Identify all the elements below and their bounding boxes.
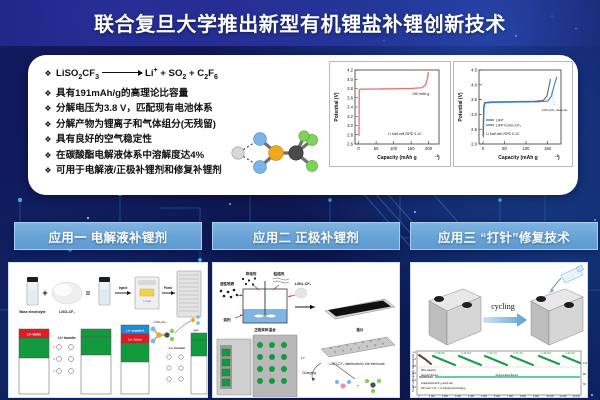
svg-text:50: 50 xyxy=(374,146,379,151)
svg-text:9,000: 9,000 xyxy=(533,395,540,397)
reaction-arrow-icon xyxy=(102,72,142,73)
page-title: 联合复旦大学推出新型有机锂盐补锂创新技术 xyxy=(0,8,600,37)
svg-text:C 97.4%: C 97.4% xyxy=(513,351,524,355)
svg-text:6,000: 6,000 xyxy=(494,395,501,397)
svg-text:LiFP: LiFP xyxy=(496,118,504,122)
list-item-label: 分解产物为锂离子和气体组分(无残留) xyxy=(56,118,216,131)
chart-capacity-potential-a: 2.62.8 3.03.2 3.43.6 3.84.0 4.2 050 1001… xyxy=(329,61,451,167)
svg-text:11,000: 11,000 xyxy=(559,395,567,397)
svg-text:100: 100 xyxy=(523,146,531,151)
svg-text:1.2: 1.2 xyxy=(412,350,416,354)
svg-text:Inject: Inject xyxy=(119,286,129,290)
svg-text:2,000: 2,000 xyxy=(442,395,449,397)
svg-text:2.5: 2.5 xyxy=(471,127,477,132)
poster-root: 联合复旦大学推出新型有机锂盐补锂创新技术 xyxy=(0,0,600,400)
app1-header[interactable]: 应用一 电解液补锂剂 xyxy=(14,222,202,250)
list-item-label: 可用于电解液/正极补锂剂和修复补锂剂 xyxy=(56,164,222,177)
svg-text:4.0: 4.0 xyxy=(347,77,353,82)
svg-text:Li half cell 25℃ 0.1C: Li half cell 25℃ 0.1C xyxy=(388,132,422,136)
app2-header[interactable]: 应用二 正极补锂剂 xyxy=(212,222,400,250)
svg-text:3.8: 3.8 xyxy=(347,86,353,91)
svg-text:12,000: 12,000 xyxy=(572,395,580,397)
svg-text:Capacity (mAh g: Capacity (mAh g xyxy=(377,155,416,161)
svg-text:Form: Form xyxy=(164,286,172,290)
sub-3: 3 xyxy=(95,74,99,81)
svg-text:C 96.1%: C 96.1% xyxy=(487,351,498,355)
svg-text:Li+ supplied: Li+ supplied xyxy=(126,328,144,332)
svg-text:2.8: 2.8 xyxy=(347,132,353,137)
svg-text:+: + xyxy=(357,383,360,388)
chart-capacity-potential-b: 2.02.5 3.03.5 4.04.5 050 100150 Capacity… xyxy=(453,61,573,167)
svg-text:7,000: 7,000 xyxy=(507,395,514,397)
svg-text:190 mAh g: 190 mAh g xyxy=(412,92,429,96)
svg-text:正极浆料混合: 正极浆料混合 xyxy=(254,327,276,332)
svg-text:Charging: Charging xyxy=(302,371,316,375)
svg-text:N/P ratio 1.13, 1 C charging-d: N/P ratio 1.13, 1 C charging-discharging xyxy=(421,387,466,390)
svg-text:C 96.8%: C 96.8% xyxy=(435,351,446,355)
svg-text:0: 0 xyxy=(357,146,360,151)
syringe-icon xyxy=(549,265,584,293)
svg-text:4.5: 4.5 xyxy=(471,68,477,73)
svg-text:LiFP+LiSO₂CF₃: LiFP+LiSO₂CF₃ xyxy=(496,123,522,127)
svg-text:150: 150 xyxy=(408,146,416,151)
app3-body: cycling xyxy=(410,262,588,398)
bullet-diamond-icon: ❖ xyxy=(40,149,56,162)
bullet-diamond-icon: ❖ xyxy=(40,102,56,115)
svg-text:3.0: 3.0 xyxy=(471,112,477,117)
reactant-cf: CF xyxy=(82,68,95,79)
svg-text:活性物质: 活性物质 xyxy=(220,281,235,286)
svg-text:3.4: 3.4 xyxy=(347,105,353,110)
bullet-diamond-icon: ❖ xyxy=(40,67,56,80)
svg-text:Li+ Solve: Li+ Solve xyxy=(128,337,142,341)
svg-text:200: 200 xyxy=(425,146,433,151)
svg-text:溶剂: 溶剂 xyxy=(223,317,231,322)
svg-text:120: 120 xyxy=(583,361,587,365)
svg-text:Potential (V): Potential (V) xyxy=(458,92,464,122)
molecule-icon xyxy=(224,127,324,179)
svg-text:80: 80 xyxy=(583,372,586,376)
list-item-label: 在碳酸酯电解液体系中溶解度达4% xyxy=(56,149,204,162)
svg-text:1,000: 1,000 xyxy=(429,395,436,397)
reaction-reactant: LiSO xyxy=(56,68,78,79)
svg-text:cycling: cycling xyxy=(491,302,515,311)
svg-text:3.0: 3.0 xyxy=(347,123,353,128)
app1-diagram: Base electrolyte + LiSO₂CF₃ = Inject Li … xyxy=(9,263,207,397)
chart-b-svg: 2.02.5 3.03.5 4.04.5 050 100150 Capacity… xyxy=(454,62,572,166)
svg-text:Base electrolyte: Base electrolyte xyxy=(19,310,45,314)
svg-text:Capacity (mAh g: Capacity (mAh g xyxy=(498,155,537,161)
app2-diagram: 正极浆料混合 导电剂 粘结剂 活性物质 xyxy=(213,263,399,397)
app3-header[interactable]: 应用三 “打针”修复技术 xyxy=(410,222,598,250)
svg-text:C 96.0%: C 96.0% xyxy=(565,351,576,355)
svg-text:Li+ Solve: Li+ Solve xyxy=(27,332,41,336)
svg-text:60: 60 xyxy=(583,382,586,386)
svg-text:3.6: 3.6 xyxy=(347,95,353,100)
svg-text:80% capacity: 80% capacity xyxy=(421,369,437,372)
chart-a-svg: 2.62.8 3.03.2 3.43.6 3.84.0 4.2 050 1001… xyxy=(330,62,450,166)
svg-text:+: + xyxy=(42,288,47,298)
svg-text:Li half cell 25℃ 0.1C: Li half cell 25℃ 0.1C xyxy=(486,132,520,136)
bullet-diamond-icon: ❖ xyxy=(40,87,56,100)
svg-text:2.0: 2.0 xyxy=(471,142,477,147)
bullet-diamond-icon: ❖ xyxy=(40,118,56,131)
svg-text:Li cell: Li cell xyxy=(143,299,151,303)
svg-text:Li+ transfer: Li+ transfer xyxy=(169,346,186,350)
svg-text:4,000: 4,000 xyxy=(468,395,475,397)
svg-text:2.6: 2.6 xyxy=(347,142,353,147)
list-item: ❖ LiSO2CF3Li+ + SO2 + C2F6 xyxy=(40,64,340,84)
list-item-label: 具有良好的空气稳定性 xyxy=(56,133,152,146)
svg-text:50: 50 xyxy=(502,146,507,151)
bullet-diamond-icon: ❖ xyxy=(40,164,56,177)
svg-text:Li+ transfer: Li+ transfer xyxy=(58,336,76,340)
svg-text:Graphite|LiFePO₄ pouch cell: Graphite|LiFePO₄ pouch cell xyxy=(421,382,453,385)
svg-text:Potential (V): Potential (V) xyxy=(334,92,340,122)
svg-text:LiSO₂CF₃: LiSO₂CF₃ xyxy=(295,282,312,286)
svg-text:LiSO₂CF₃ decomp.: LiSO₂CF₃ decomp. xyxy=(542,108,568,112)
bullet-diamond-icon: ❖ xyxy=(40,133,56,146)
svg-text:3,000: 3,000 xyxy=(455,395,462,397)
app3-diagram: cycling xyxy=(411,263,587,397)
list-item-label: 具有191mAh/g的高理论比容量 xyxy=(56,87,188,100)
list-item: ❖ 具有191mAh/g的高理论比容量 xyxy=(40,87,340,100)
svg-text:Pouch cell capacity retention: Pouch cell capacity retention (%) xyxy=(411,354,415,392)
list-item-label: 分解电压为3.8 V，匹配现有电池体系 xyxy=(56,102,213,115)
svg-text:8,000: 8,000 xyxy=(520,395,527,397)
list-item: ❖ 分解电压为3.8 V，匹配现有电池体系 xyxy=(40,102,340,115)
svg-text:0: 0 xyxy=(482,146,485,151)
svg-text:): ) xyxy=(558,155,560,161)
app1-body: Base electrolyte + LiSO₂CF₃ = Inject Li … xyxy=(8,262,208,398)
svg-text:LiSO₂CF₃: LiSO₂CF₃ xyxy=(153,320,167,324)
svg-text:导电剂: 导电剂 xyxy=(246,271,257,276)
svg-text:Rejuvenated lifetime: Rejuvenated lifetime xyxy=(496,374,519,377)
svg-text:4.0: 4.0 xyxy=(471,82,477,87)
svg-text:): ) xyxy=(438,155,440,161)
svg-text:极片: 极片 xyxy=(356,327,364,332)
svg-text:C 96.8%: C 96.8% xyxy=(461,351,472,355)
svg-text:C 96.8%: C 96.8% xyxy=(541,351,552,355)
svg-text:10,000: 10,000 xyxy=(546,395,554,397)
svg-text:3.2: 3.2 xyxy=(347,114,353,119)
svg-text:Li⁺: Li⁺ xyxy=(301,356,305,360)
svg-text:4.2: 4.2 xyxy=(347,68,353,73)
summary-card: ❖ LiSO2CF3Li+ + SO2 + C2F6 ❖ 具有191mAh/g的… xyxy=(28,55,578,195)
svg-text:100: 100 xyxy=(390,146,398,151)
svg-text:粘结剂: 粘结剂 xyxy=(273,271,285,276)
svg-text:5,000: 5,000 xyxy=(481,395,488,397)
svg-text:LiSO₂CF₃: LiSO₂CF₃ xyxy=(59,310,75,314)
app2-body: 正极浆料混合 导电剂 粘结剂 活性物质 xyxy=(212,262,400,398)
svg-text:3.5: 3.5 xyxy=(471,97,477,102)
reaction-equation: LiSO2CF3Li+ + SO2 + C2F6 xyxy=(56,64,218,84)
svg-text:gas: gas xyxy=(194,328,199,332)
header-banner: 联合复旦大学推出新型有机锂盐补锂创新技术 xyxy=(0,0,600,46)
svg-text:150: 150 xyxy=(544,146,552,151)
svg-text:LiSO₂CF₃ distributed in the el: LiSO₂CF₃ distributed in the electrode xyxy=(329,362,385,366)
svg-text:=: = xyxy=(86,289,91,298)
